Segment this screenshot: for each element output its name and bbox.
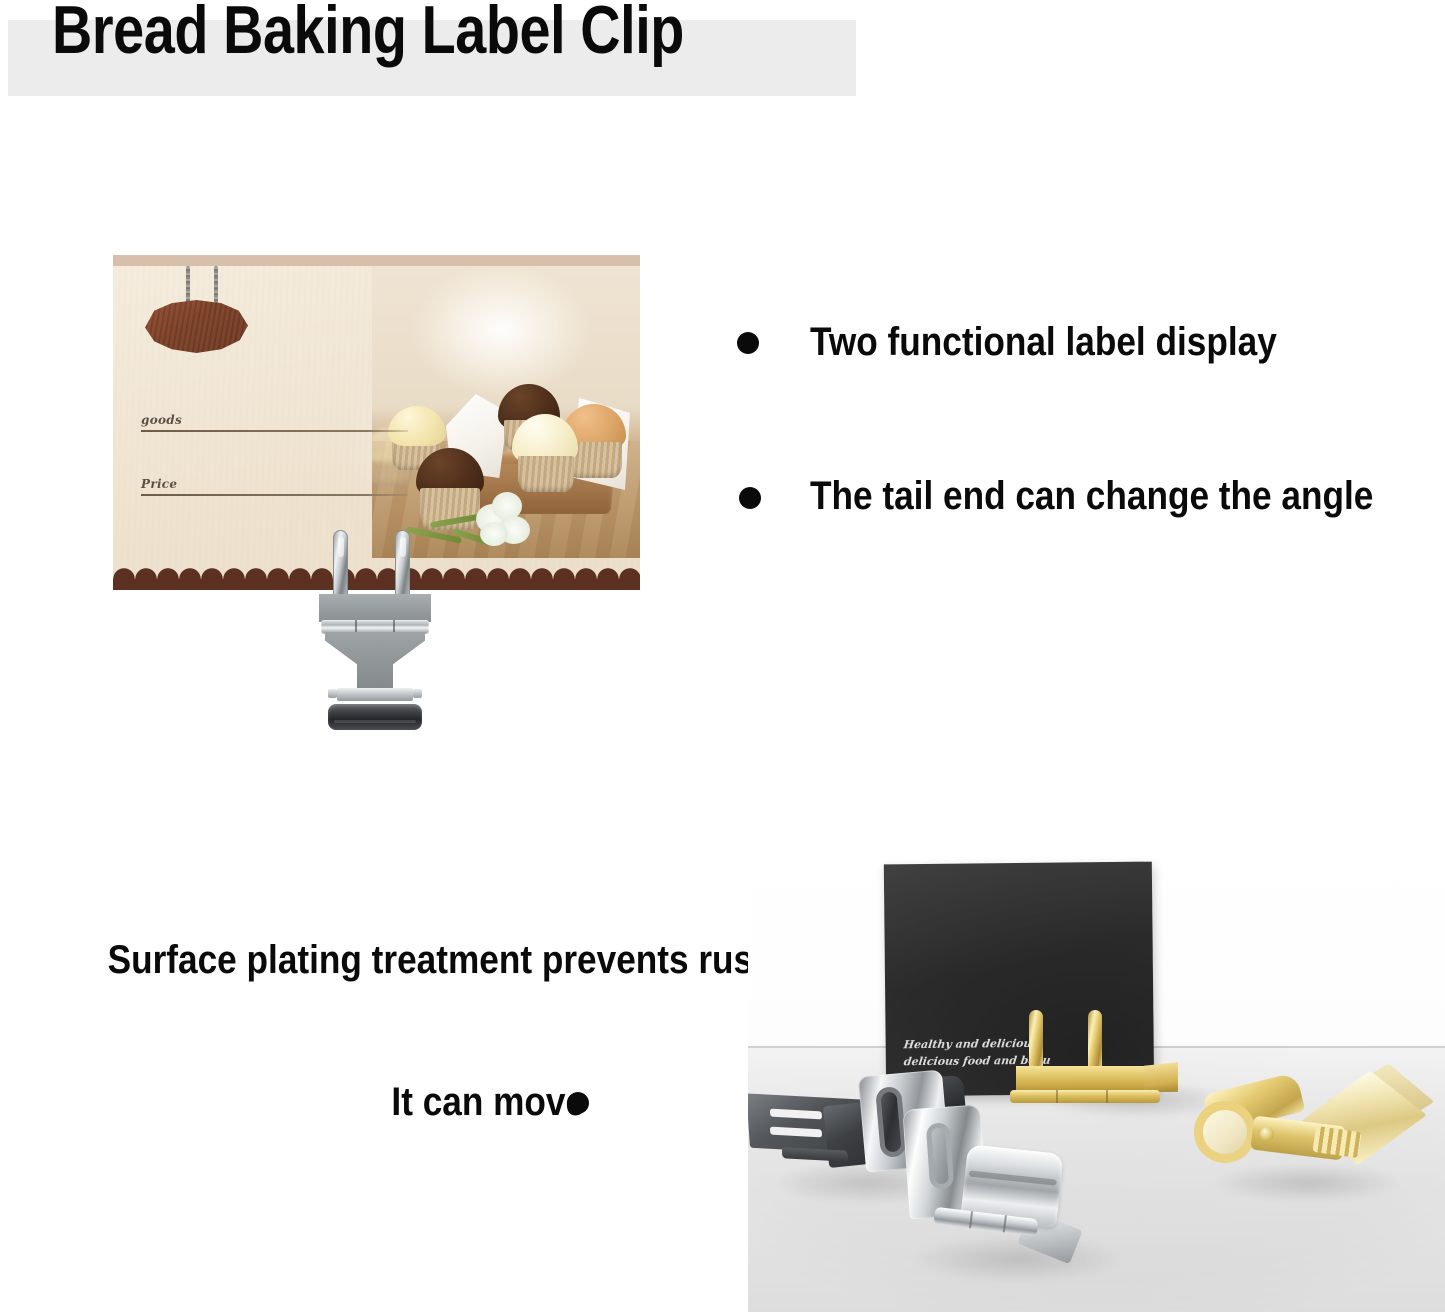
orchid-petal [480,522,508,546]
gold-clip-screw [1260,1127,1274,1141]
price-field-line [141,494,408,496]
cupcake-liner [518,456,574,492]
goods-field-line [141,430,408,432]
feature-text-3: Surface plating treatment prevents rust [108,938,765,982]
clip-tray [337,688,413,701]
gold-stand-hinge-barrel [1010,1090,1160,1103]
page-title: Bread Baking Label Clip [52,0,684,66]
gold-stand-hook [1029,1010,1043,1068]
black-clip-foot [782,1147,848,1162]
clip-prong [333,530,348,602]
clip-backplate [319,594,431,622]
clip-body [325,632,425,694]
gold-clip-stand [1016,1038,1178,1106]
metal-clip-stand [315,530,435,730]
silver-clip-arm-slot [926,1122,955,1190]
product-clips-photo: Healthy and delicious delicious food and… [748,845,1445,1312]
feature-text-1: Two functional label display [810,320,1277,364]
bullet-dot-icon [739,487,761,509]
goods-field-label: goods [141,413,408,427]
price-field: Price [141,477,408,496]
feature-text-2: The tail end can change the angle [810,474,1373,518]
clip-hinge-barrel [321,620,429,634]
clip-prong [395,530,410,602]
clip-jaw [328,704,422,730]
card-top-strip [113,255,640,266]
bullet-dot-icon [737,332,759,354]
price-field-label: Price [141,477,408,491]
goods-field: goods [141,413,408,432]
feature-text-4: It can move [391,1080,585,1124]
gold-stand-hook [1088,1010,1102,1068]
cupcakes-photo [372,266,640,558]
silver-clip-front [906,1107,1096,1269]
hanging-chain-icon [214,266,218,308]
gold-clip-right [1188,1077,1388,1207]
